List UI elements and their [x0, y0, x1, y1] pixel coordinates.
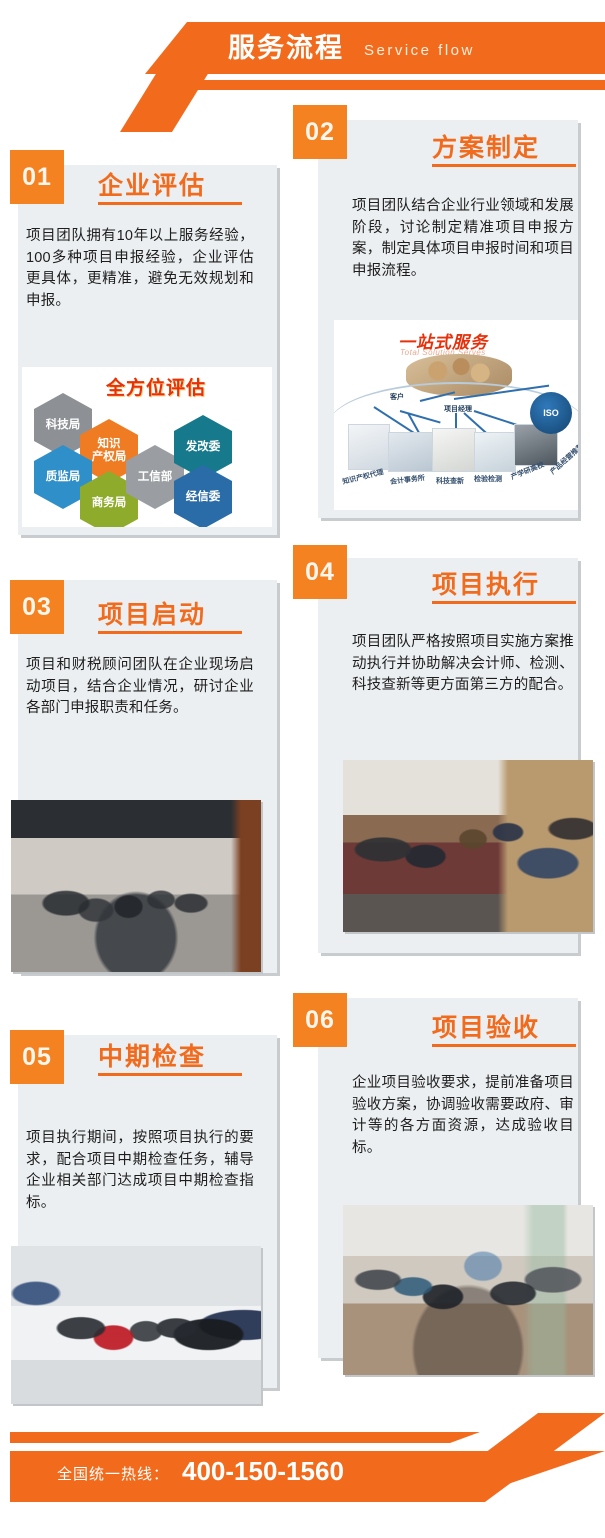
step-title-06: 项目验收 [432, 1008, 540, 1044]
hex-infographic-title: 全方位评估 [106, 373, 206, 400]
photo-content [343, 1205, 593, 1375]
service-flow-page: 服务流程 Service flow 01 企业评估 项目团队拥有10年以上服务经… [0, 0, 605, 1538]
photo-content [11, 800, 261, 972]
step-title-rule-01 [98, 202, 242, 205]
showroom-visit-photo [11, 1246, 261, 1404]
one-stop-node-testing [474, 432, 516, 472]
hex-node-label: 商务局 [92, 497, 127, 510]
step-title-03: 项目启动 [98, 595, 206, 631]
one-stop-iso-seal: ISO [530, 392, 572, 434]
acceptance-meeting-photo [343, 1205, 593, 1375]
hex-node-label: 发改委 [186, 441, 221, 454]
page-header: 服务流程 Service flow [0, 0, 605, 120]
step-body-04: 项目团队严格按照项目实施方案推动执行并协助解决会计师、检测、科技查新等更方面第三… [352, 632, 574, 697]
hex-node-label: 知识产权局 [92, 438, 127, 464]
hex-node-label: 质监局 [46, 471, 81, 484]
step-title-rule-02 [432, 164, 576, 167]
page-title: 服务流程 [228, 27, 344, 69]
one-stop-bottom-label: 科技查新 [436, 476, 464, 486]
hex-node-label: 工信部 [138, 471, 173, 484]
step-title-rule-03 [98, 631, 242, 634]
one-stop-bottom-label: 知识产权代理 [341, 467, 384, 487]
hex-node-label: 科技局 [46, 419, 81, 432]
hotline-label: 全国统一热线： [57, 1463, 169, 1484]
step-number-badge-01: 01 [10, 150, 64, 204]
step-title-05: 中期检查 [98, 1037, 206, 1073]
one-stop-node-search [432, 428, 476, 472]
step-title-02: 方案制定 [432, 128, 540, 164]
photo-content [11, 1246, 261, 1404]
hexagon-infographic: 全方位评估 科技局 知识产权局 质监局 商务局 工信部 发改委 经信委 [22, 367, 272, 527]
one-stop-bottom-label: 会计事务所 [390, 473, 426, 487]
step-title-rule-05 [98, 1073, 242, 1076]
step-number-badge-03: 03 [10, 580, 64, 634]
step-body-01: 项目团队拥有10年以上服务经验，100多种项目申报经验，企业评估更具体，更精准，… [26, 226, 254, 312]
step-number-badge-06: 06 [293, 993, 347, 1047]
step-body-05: 项目执行期间，按照项目执行的要求，配合项目中期检查任务，辅导企业相关部门达成项目… [26, 1128, 254, 1214]
page-footer: 全国统一热线： 400-150-1560 [0, 1432, 605, 1538]
step-body-02: 项目团队结合企业行业领域和发展阶段，讨论制定精准项目申报方案，制定具体项目申报时… [352, 196, 574, 282]
step-number-badge-04: 04 [293, 545, 347, 599]
step-title-rule-04 [432, 601, 576, 604]
hotline-number[interactable]: 400-150-1560 [182, 1456, 344, 1487]
header-stripe-decoration [150, 80, 605, 90]
step-title-rule-06 [432, 1044, 576, 1047]
page-subtitle: Service flow [364, 36, 475, 66]
one-stop-node-ip [348, 424, 390, 470]
meeting-room-photo [11, 800, 261, 972]
step-body-06: 企业项目验收要求，提前准备项目验收方案，协调验收需要政府、审计等的各方面资源，达… [352, 1073, 574, 1159]
step-number-badge-02: 02 [293, 105, 347, 159]
working-session-photo [343, 760, 593, 932]
one-stop-node-accounting [388, 432, 434, 472]
step-title-01: 企业评估 [98, 166, 206, 202]
one-stop-label-manager: 项目经理 [444, 404, 472, 414]
step-title-04: 项目执行 [432, 565, 540, 601]
hex-node-label: 经信委 [186, 491, 221, 504]
photo-content [343, 760, 593, 932]
step-body-03: 项目和财税顾问团队在企业现场启动项目，结合企业情况，研讨企业各部门申报职责和任务… [26, 655, 254, 720]
one-stop-label-customer: 客户 [390, 392, 404, 402]
one-stop-bottom-label: 检验检测 [474, 474, 502, 484]
footer-stripe-decoration [10, 1432, 480, 1443]
one-stop-service-infographic: 一站式服务 Total Solution Serves 客户 项目经理 ISO … [334, 320, 578, 510]
step-number-badge-05: 05 [10, 1030, 64, 1084]
